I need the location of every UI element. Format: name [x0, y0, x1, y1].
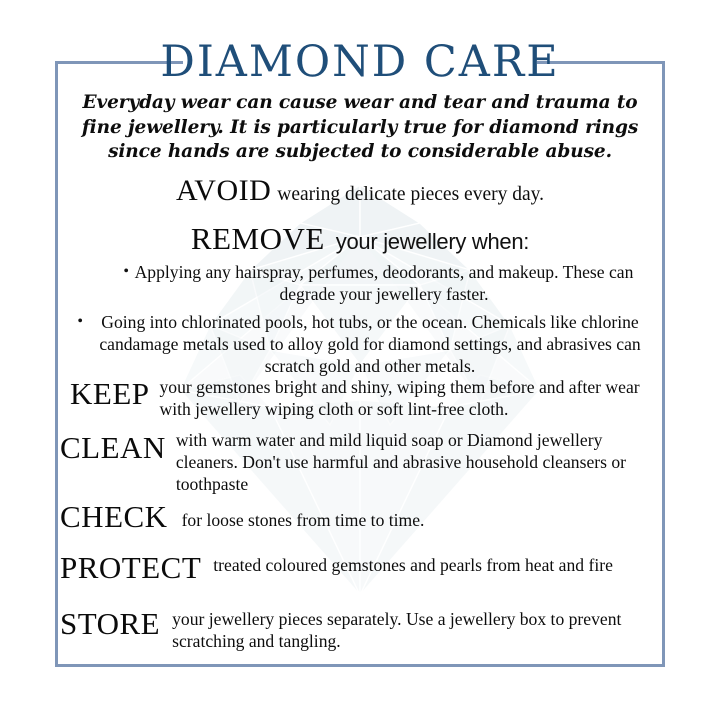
clean-text: with warm water and mild liquid soap or …	[166, 429, 665, 495]
avoid-text: wearing delicate pieces every day.	[271, 184, 544, 205]
keep-keyword: KEEP	[70, 376, 150, 409]
check-keyword: CHECK	[60, 501, 168, 532]
store-keyword: STORE	[60, 606, 160, 639]
store-text: your jewellery pieces separately. Use a …	[160, 606, 665, 652]
remove-keyword: REMOVE	[191, 221, 325, 256]
check-text: for loose stones from time to time.	[168, 501, 665, 531]
poster-content: DIAMOND CARE Everyday wear can cause wea…	[55, 61, 665, 667]
diamond-care-poster: DIAMOND CARE Everyday wear can cause wea…	[0, 0, 720, 720]
avoid-keyword: AVOID	[176, 174, 271, 207]
protect-keyword: PROTECT	[60, 550, 201, 583]
tip-row-check: CHECK for loose stones from time to time…	[60, 501, 665, 532]
bullet-dot-icon: •	[69, 311, 83, 333]
keep-text: your gemstones bright and shiny, wiping …	[150, 376, 666, 420]
bullet-dot-icon: •	[115, 261, 129, 283]
tip-row-keep: KEEP your gemstones bright and shiny, wi…	[70, 376, 665, 420]
tip-row-store: STORE your jewellery pieces separately. …	[60, 606, 665, 652]
page-title: DIAMOND CARE	[55, 39, 665, 85]
list-item: • Going into chlorinated pools, hot tubs…	[69, 311, 653, 377]
list-item-text: Applying any hairspray, perfumes, deodor…	[129, 261, 635, 305]
avoid-row: AVOIDwearing delicate pieces every day.	[55, 174, 665, 208]
remove-row: REMOVEyour jewellery when:	[55, 221, 665, 257]
tip-row-clean: CLEAN with warm water and mild liquid so…	[60, 429, 665, 495]
remove-bullet-list: • Applying any hairspray, perfumes, deod…	[63, 261, 657, 378]
intro-paragraph: Everyday wear can cause wear and tear an…	[67, 91, 653, 165]
list-item-text: Going into chlorinated pools, hot tubs, …	[83, 311, 653, 377]
protect-text: treated coloured gemstones and pearls fr…	[201, 550, 665, 576]
clean-keyword: CLEAN	[60, 429, 166, 463]
list-item: • Applying any hairspray, perfumes, deod…	[115, 261, 635, 305]
remove-text: your jewellery when:	[325, 229, 529, 254]
tip-row-protect: PROTECT treated coloured gemstones and p…	[60, 550, 665, 583]
